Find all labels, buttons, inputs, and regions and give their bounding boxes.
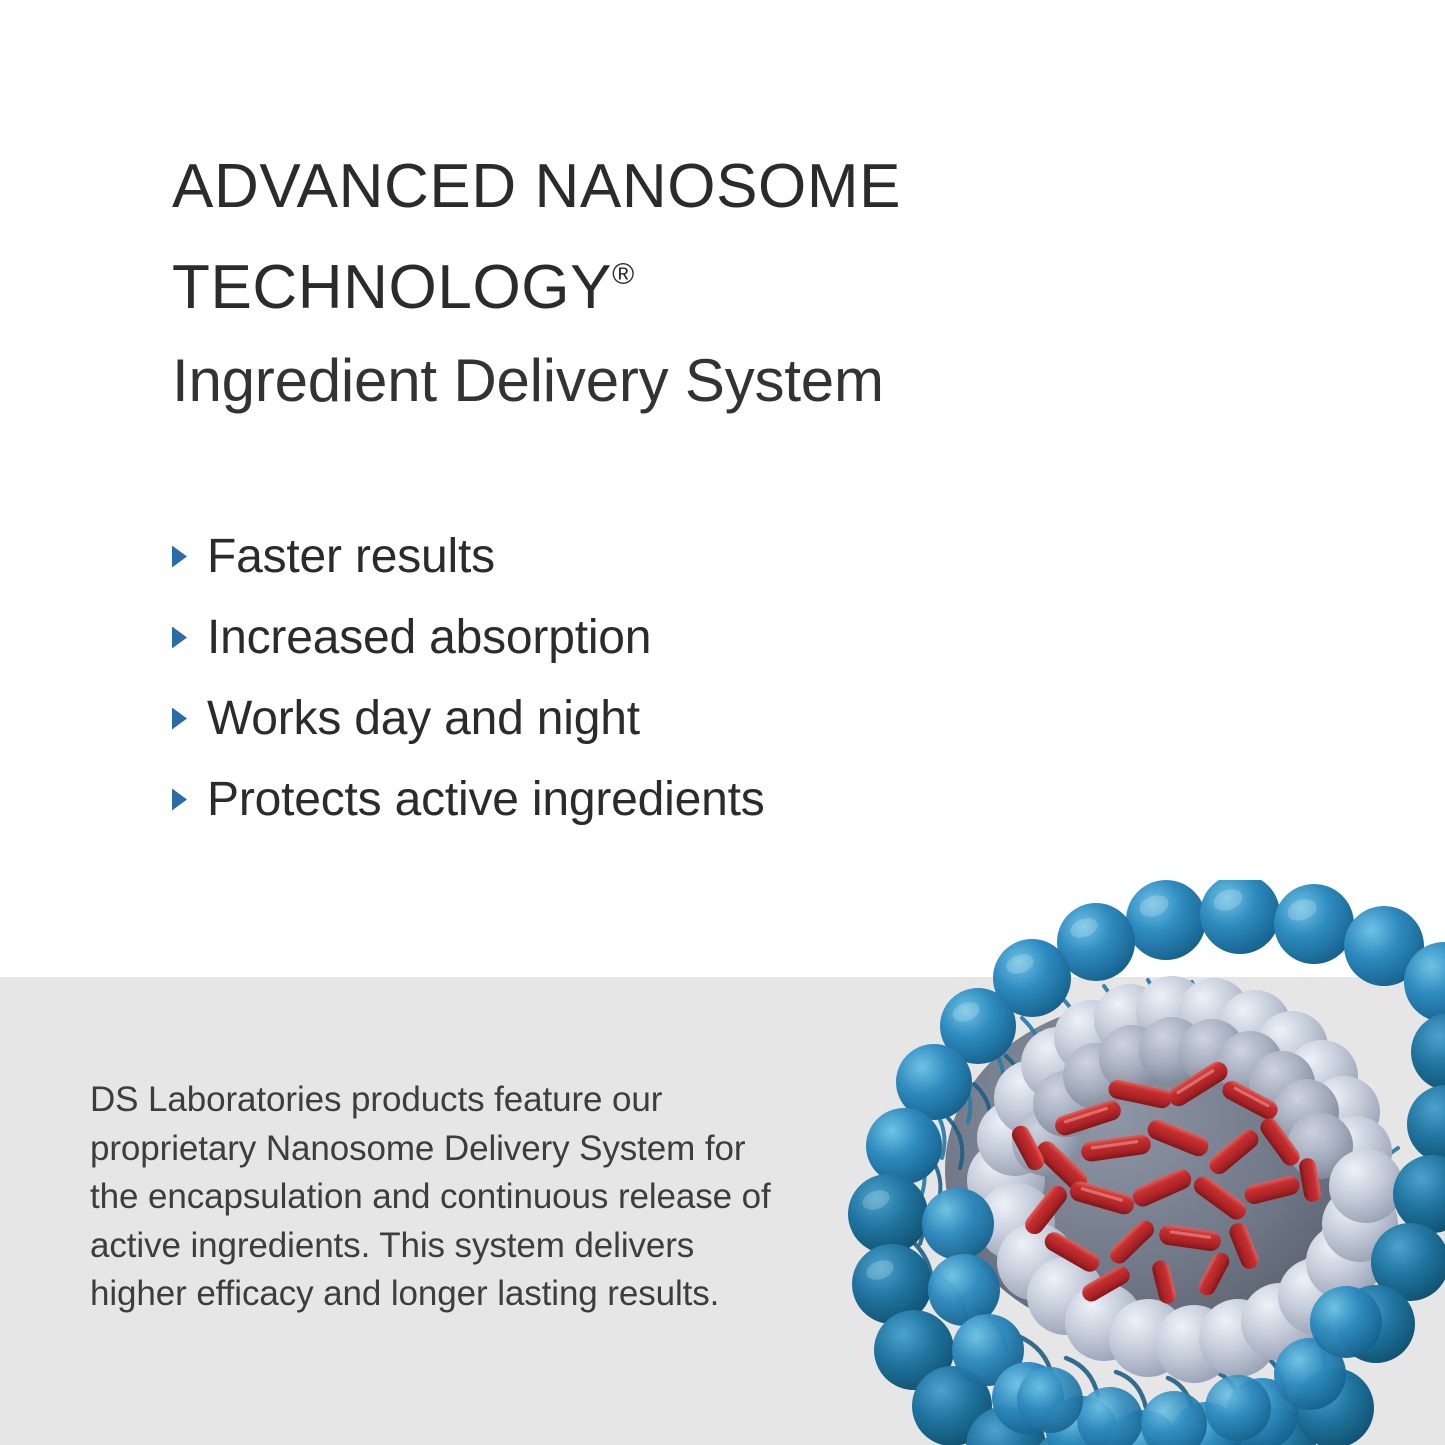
- triangle-right-icon: [172, 789, 187, 811]
- list-item: Increased absorption: [172, 597, 1072, 678]
- description-paragraph: DS Laboratories products feature our pro…: [90, 1076, 800, 1319]
- nanosome-technology-slide: ADVANCED NANOSOMETECHNOLOGY® Ingredient …: [0, 0, 1445, 1445]
- registered-trademark-icon: ®: [612, 258, 634, 291]
- benefit-label: Faster results: [207, 529, 495, 585]
- triangle-right-icon: [172, 546, 187, 568]
- triangle-right-icon: [172, 708, 187, 730]
- headline-block: ADVANCED NANOSOMETECHNOLOGY® Ingredient …: [172, 143, 1072, 416]
- list-item: Works day and night: [172, 678, 1072, 759]
- benefit-label: Protects active ingredients: [207, 772, 765, 828]
- list-item: Protects active ingredients: [172, 759, 1072, 840]
- page-title: ADVANCED NANOSOMETECHNOLOGY®: [172, 143, 1072, 332]
- page-subtitle: Ingredient Delivery System: [172, 346, 1072, 416]
- benefit-label: Increased absorption: [207, 610, 651, 666]
- benefits-list: Faster results Increased absorption Work…: [172, 516, 1072, 840]
- title-line-1: ADVANCED NANOSOME: [172, 152, 901, 221]
- triangle-right-icon: [172, 627, 187, 649]
- nanosome-illustration: [810, 880, 1445, 1445]
- title-line-2: TECHNOLOGY: [172, 253, 612, 322]
- benefit-label: Works day and night: [207, 691, 640, 747]
- list-item: Faster results: [172, 516, 1072, 597]
